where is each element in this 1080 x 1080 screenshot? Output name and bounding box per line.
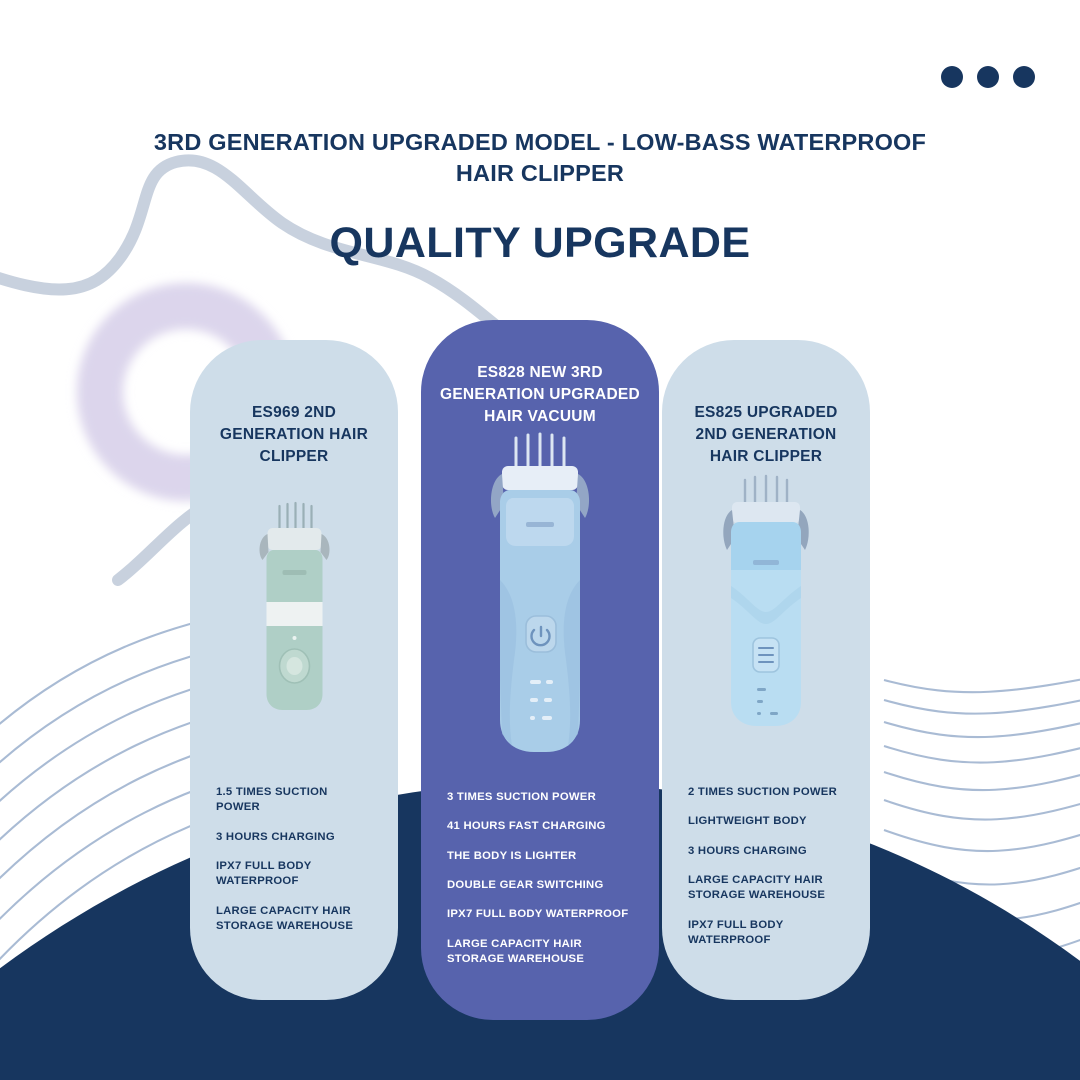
feature-item: THE BODY IS LIGHTER bbox=[447, 849, 633, 864]
feature-list-right: 2 TIMES SUCTION POWERLIGHTWEIGHT BODY3 H… bbox=[662, 785, 870, 963]
product-title-center: ES828 NEW 3RD GENERATION UPGRADED HAIR V… bbox=[421, 362, 659, 428]
feature-item: 2 TIMES SUCTION POWER bbox=[688, 785, 844, 800]
page-title: QUALITY UPGRADE bbox=[140, 219, 940, 268]
product-card-right[interactable]: ES825 UPGRADED 2ND GENERATION HAIR CLIPP… bbox=[662, 340, 870, 1000]
feature-item: LARGE CAPACITY HAIR STORAGE WAREHOUSE bbox=[447, 937, 633, 968]
feature-item: 41 HOURS FAST CHARGING bbox=[447, 819, 633, 834]
feature-item: LIGHTWEIGHT BODY bbox=[688, 814, 844, 829]
feature-item: LARGE CAPACITY HAIR STORAGE WAREHOUSE bbox=[688, 873, 844, 904]
feature-item: 3 TIMES SUCTION POWER bbox=[447, 790, 633, 805]
feature-item: 3 HOURS CHARGING bbox=[216, 830, 372, 845]
product-title-left: ES969 2ND GENERATION HAIR CLIPPER bbox=[190, 402, 398, 468]
feature-item: IPX7 FULL BODY WATERPROOF bbox=[447, 907, 633, 922]
feature-list-left: 1.5 TIMES SUCTION POWER3 HOURS CHARGINGI… bbox=[190, 785, 398, 949]
hair-clipper-mint-icon bbox=[247, 498, 342, 714]
hair-clipper-lightblue-icon bbox=[713, 470, 819, 732]
subtitle: 3RD GENERATION UPGRADED MODEL - LOW-BASS… bbox=[140, 127, 940, 189]
feature-list-center: 3 TIMES SUCTION POWER41 HOURS FAST CHARG… bbox=[421, 790, 659, 982]
dot-2-icon bbox=[977, 66, 999, 88]
dot-3-icon bbox=[1013, 66, 1035, 88]
product-card-left[interactable]: ES969 2ND GENERATION HAIR CLIPPER 1.5 TI… bbox=[190, 340, 398, 1000]
feature-item: DOUBLE GEAR SWITCHING bbox=[447, 878, 633, 893]
product-title-right: ES825 UPGRADED 2ND GENERATION HAIR CLIPP… bbox=[662, 402, 870, 468]
dot-decoration-group bbox=[941, 66, 1035, 88]
feature-item: LARGE CAPACITY HAIR STORAGE WAREHOUSE bbox=[216, 904, 372, 935]
product-card-center[interactable]: ES828 NEW 3RD GENERATION UPGRADED HAIR V… bbox=[421, 320, 659, 1020]
feature-item: IPX7 FULL BODY WATERPROOF bbox=[688, 918, 844, 949]
feature-item: IPX7 FULL BODY WATERPROOF bbox=[216, 859, 372, 890]
dot-1-icon bbox=[941, 66, 963, 88]
hair-vacuum-blue-icon bbox=[480, 430, 600, 760]
feature-item: 1.5 TIMES SUCTION POWER bbox=[216, 785, 372, 816]
infographic-canvas: 3RD GENERATION UPGRADED MODEL - LOW-BASS… bbox=[0, 0, 1080, 1080]
feature-item: 3 HOURS CHARGING bbox=[688, 844, 844, 859]
